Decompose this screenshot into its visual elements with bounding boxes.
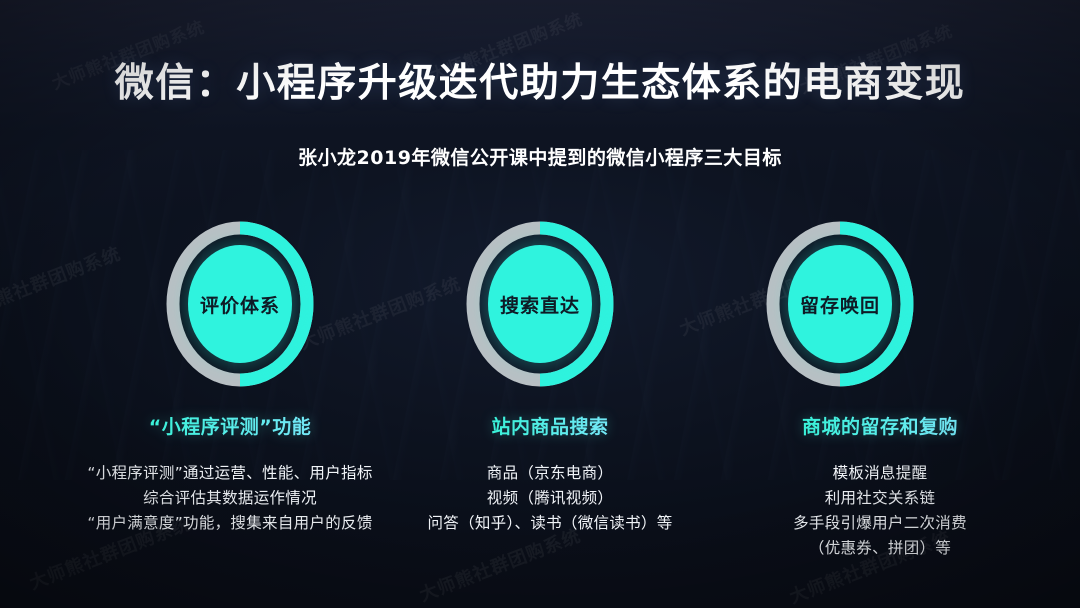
description-columns: “小程序评测”功能 “小程序评测”通过运营、性能、用户指标 综合评估其数据运作情… [0,412,1080,592]
column-body: 模板消息提醒 利用社交关系链 多手段引爆用户二次消费 （优惠券、拼团）等 [680,461,1080,561]
body-line: “用户满意度”功能，搜集来自用户的反馈 [20,511,440,536]
column-body: “小程序评测”通过运营、性能、用户指标 综合评估其数据运作情况 “用户满意度”功… [20,461,440,536]
body-line: 视频（腾讯视频） [400,486,700,511]
body-line: （优惠券、拼团）等 [680,536,1080,561]
description-column: “小程序评测”功能 “小程序评测”通过运营、性能、用户指标 综合评估其数据运作情… [20,412,440,536]
description-column: 商城的留存和复购 模板消息提醒 利用社交关系链 多手段引爆用户二次消费 （优惠券… [680,412,1080,561]
column-body: 商品（京东电商） 视频（腾讯视频） 问答（知乎）、读书（微信读书）等 [400,461,700,536]
body-line: 利用社交关系链 [680,486,1080,511]
goal-node[interactable]: 留存唤回 [732,196,948,412]
body-line: 问答（知乎）、读书（微信读书）等 [400,511,700,536]
column-heading: 商城的留存和复购 [680,412,1080,439]
description-column: 站内商品搜索 商品（京东电商） 视频（腾讯视频） 问答（知乎）、读书（微信读书）… [400,412,700,536]
column-heading: 站内商品搜索 [400,412,700,439]
goal-core: 留存唤回 [788,245,892,363]
body-line: 商品（京东电商） [400,461,700,486]
goal-core: 评价体系 [188,245,292,363]
goal-label: 搜索直达 [500,291,580,318]
body-line: 综合评估其数据运作情况 [20,486,440,511]
goal-core: 搜索直达 [488,245,592,363]
presentation-slide: 大师熊社群团购系统 大师熊社群团购系统 大师熊社群团购系统 大师熊社群团购系统 … [0,0,1080,608]
slide-subtitle: 张小龙2019年微信公开课中提到的微信小程序三大目标 [0,143,1080,170]
goal-node[interactable]: 搜索直达 [432,196,648,412]
body-line: 多手段引爆用户二次消费 [680,511,1080,536]
goal-label: 留存唤回 [800,291,880,318]
goal-circle-row: 评价体系 搜索直达 留存唤回 [0,196,1080,412]
goal-node[interactable]: 评价体系 [132,196,348,412]
column-heading: “小程序评测”功能 [20,412,440,439]
goal-label: 评价体系 [200,291,280,318]
body-line: “小程序评测”通过运营、性能、用户指标 [20,461,440,486]
slide-title: 微信：小程序升级迭代助力生态体系的电商变现 [0,52,1080,108]
body-line: 模板消息提醒 [680,461,1080,486]
